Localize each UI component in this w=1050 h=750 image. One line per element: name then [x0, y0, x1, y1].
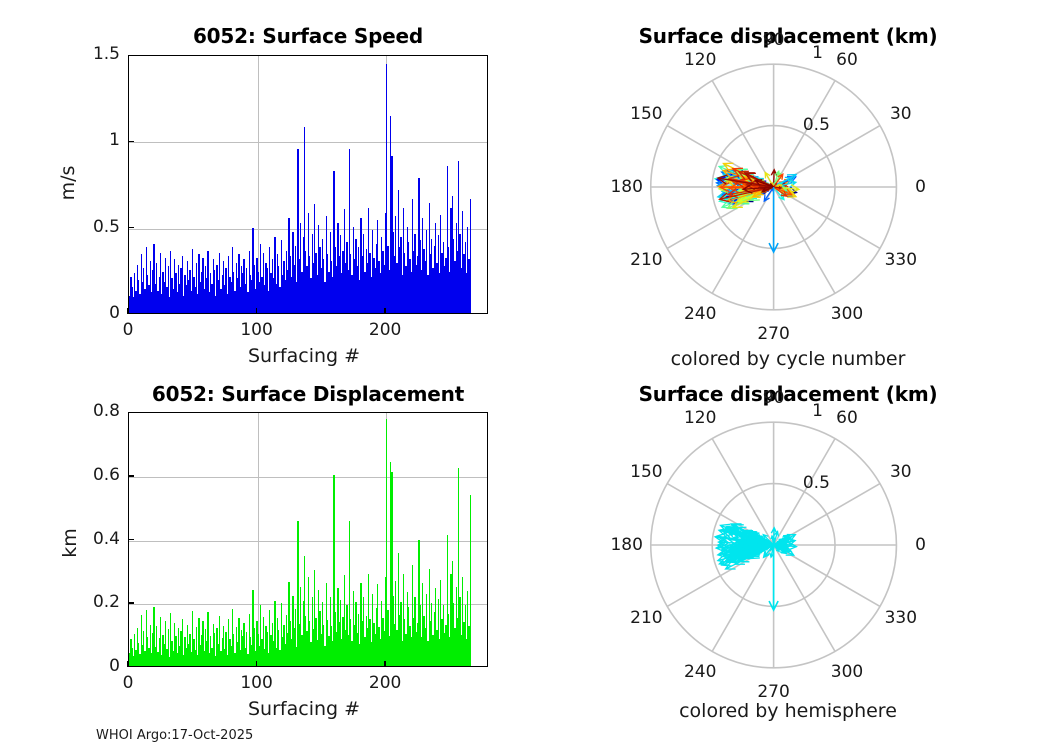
- y-tick-label: 1: [64, 130, 120, 150]
- polar-angle-label: 150: [630, 104, 662, 124]
- polar-angle-label: 30: [890, 462, 912, 482]
- x-tick-mark: [256, 661, 258, 667]
- polar-angle-label: 210: [630, 608, 662, 628]
- y-tick-label: 0.4: [64, 529, 120, 549]
- polar-hemi-title: Surface displacement (km): [588, 382, 988, 406]
- speed-y-axis-label: m/s: [57, 153, 79, 213]
- y-tick-label: 0.5: [64, 217, 120, 237]
- polar-grid: [628, 410, 948, 680]
- polar-angle-label: 300: [831, 304, 863, 324]
- x-tick-mark: [127, 308, 129, 314]
- polar-angle-label: 150: [630, 462, 662, 482]
- polar-spoke: [774, 187, 835, 293]
- polar-cycle-caption: colored by cycle number: [588, 348, 988, 370]
- polar-angle-label: 240: [684, 304, 716, 324]
- polar-spoke: [774, 545, 880, 606]
- polar-angle-label: 270: [757, 682, 789, 702]
- x-tick-label: 200: [345, 673, 425, 693]
- x-tick-mark: [384, 308, 386, 314]
- polar-radial-label: 1: [812, 401, 823, 421]
- polar-angle-label: 0: [915, 535, 926, 555]
- polar-angle-label: 120: [684, 50, 716, 70]
- polar-angle-label: 60: [836, 50, 858, 70]
- y-tick-label: 1.5: [64, 44, 120, 64]
- speed-x-axis-label: Surfacing #: [248, 345, 360, 367]
- x-tick-label: 100: [217, 673, 297, 693]
- polar-spoke: [774, 545, 835, 651]
- x-tick-label: 0: [88, 320, 168, 340]
- x-tick-label: 200: [345, 320, 425, 340]
- polar-vector: [769, 187, 778, 252]
- displacement-x-axis-label: Surfacing #: [248, 698, 360, 720]
- polar-radial-label: 1: [812, 43, 823, 63]
- polar-angle-label: 210: [630, 250, 662, 270]
- polar-angle-label: 180: [610, 177, 642, 197]
- polar-angle-label: 120: [684, 408, 716, 428]
- x-tick-label: 0: [88, 673, 168, 693]
- x-tick-mark: [127, 661, 129, 667]
- y-tick-mark: [128, 141, 134, 143]
- polar-angle-label: 330: [885, 608, 917, 628]
- polar-angle-label: 240: [684, 662, 716, 682]
- y-tick-mark: [128, 475, 134, 477]
- polar-cycle-title: Surface displacement (km): [588, 24, 988, 48]
- bar-series: [129, 56, 487, 313]
- polar-angle-label: 90: [763, 388, 785, 408]
- speed-panel-title: 6052: Surface Speed: [128, 24, 488, 48]
- bar: [470, 495, 471, 666]
- bar: [470, 199, 471, 313]
- polar-hemi-caption: colored by hemisphere: [588, 700, 988, 722]
- polar-radial-label: 0.5: [803, 473, 830, 493]
- polar-hemisphere-plot: 03060901201501802102402703003300.51: [628, 410, 948, 680]
- y-tick-label: 0.8: [64, 401, 120, 421]
- polar-grid: [628, 52, 948, 322]
- y-tick-label: 0.6: [64, 465, 120, 485]
- polar-radial-label: 0.5: [803, 115, 830, 135]
- argo-float-summary-figure: 6052: Surface Speed m/s Surfacing # Surf…: [0, 0, 1050, 750]
- y-tick-mark: [128, 227, 134, 229]
- polar-cycle-plot: 03060901201501802102402703003300.51: [628, 52, 948, 322]
- y-tick-mark: [128, 602, 134, 604]
- bar-series: [129, 413, 487, 666]
- displacement-plot-area: [128, 412, 488, 667]
- y-tick-mark: [128, 539, 134, 541]
- polar-angle-label: 30: [890, 104, 912, 124]
- y-tick-label: 0.2: [64, 592, 120, 612]
- polar-angle-label: 180: [610, 535, 642, 555]
- polar-angle-label: 90: [763, 30, 785, 50]
- whoi-argo-stamp: WHOI Argo:17-Oct-2025: [96, 728, 253, 743]
- polar-vector-series: [715, 524, 796, 610]
- x-tick-mark: [256, 308, 258, 314]
- displacement-panel-title: 6052: Surface Displacement: [128, 382, 488, 406]
- x-tick-mark: [384, 661, 386, 667]
- polar-angle-label: 300: [831, 662, 863, 682]
- polar-angle-label: 0: [915, 177, 926, 197]
- polar-angle-label: 330: [885, 250, 917, 270]
- x-tick-label: 100: [217, 320, 297, 340]
- polar-angle-label: 60: [836, 408, 858, 428]
- polar-angle-label: 270: [757, 324, 789, 344]
- speed-plot-area: [128, 55, 488, 314]
